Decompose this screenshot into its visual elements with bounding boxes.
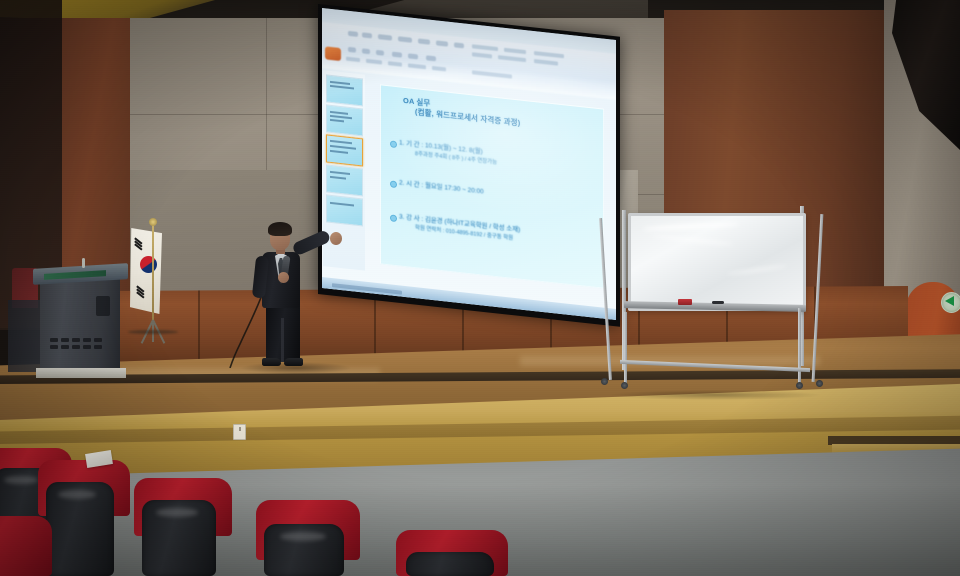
presenter-hand-left [278,272,289,283]
exit-arrow-icon [945,296,954,306]
presenter-shoe-right [284,358,303,366]
stage-outlet [233,424,246,440]
podium-base [36,368,126,378]
whiteboard-marker [712,301,724,304]
podium-control-panel [96,296,110,316]
whiteboard-leg-inner-right [798,308,801,384]
taeguk-circle-icon [140,256,157,273]
flag-stand-shadow [128,330,178,334]
flag-finial [149,218,157,226]
presenter [246,222,342,370]
whiteboard-leg-inner-left [624,312,627,384]
side-equipment [8,300,42,372]
presenter-arm-right [291,229,331,256]
whiteboard-shadow [610,390,820,400]
presenter-shoe-left [262,358,281,366]
projection-screen: OA 실무 (컴활, 워드프로세서 자격증 과정) 1. 기 간 : 10.13… [322,8,616,320]
whiteboard-eraser [678,299,692,305]
podium-vent-grille [50,338,112,354]
whiteboard-caster [796,382,803,389]
presenter-hair [268,222,292,236]
powerpoint-window[interactable]: OA 실무 (컴활, 워드프로세서 자격증 과정) 1. 기 간 : 10.13… [322,8,616,320]
podium [40,272,120,374]
lecture-hall-photo: OA 실무 (컴활, 워드프로세서 자격증 과정) 1. 기 간 : 10.13… [0,0,960,576]
presenter-leg-gap [281,318,284,362]
whiteboard-caster [601,378,608,385]
podium-microphone-icon [82,258,85,268]
presenter-hand-right [330,232,342,245]
whiteboard-caster [816,380,823,387]
whiteboard [628,213,806,311]
projector-glare [322,8,616,320]
whiteboard-caster [621,382,628,389]
